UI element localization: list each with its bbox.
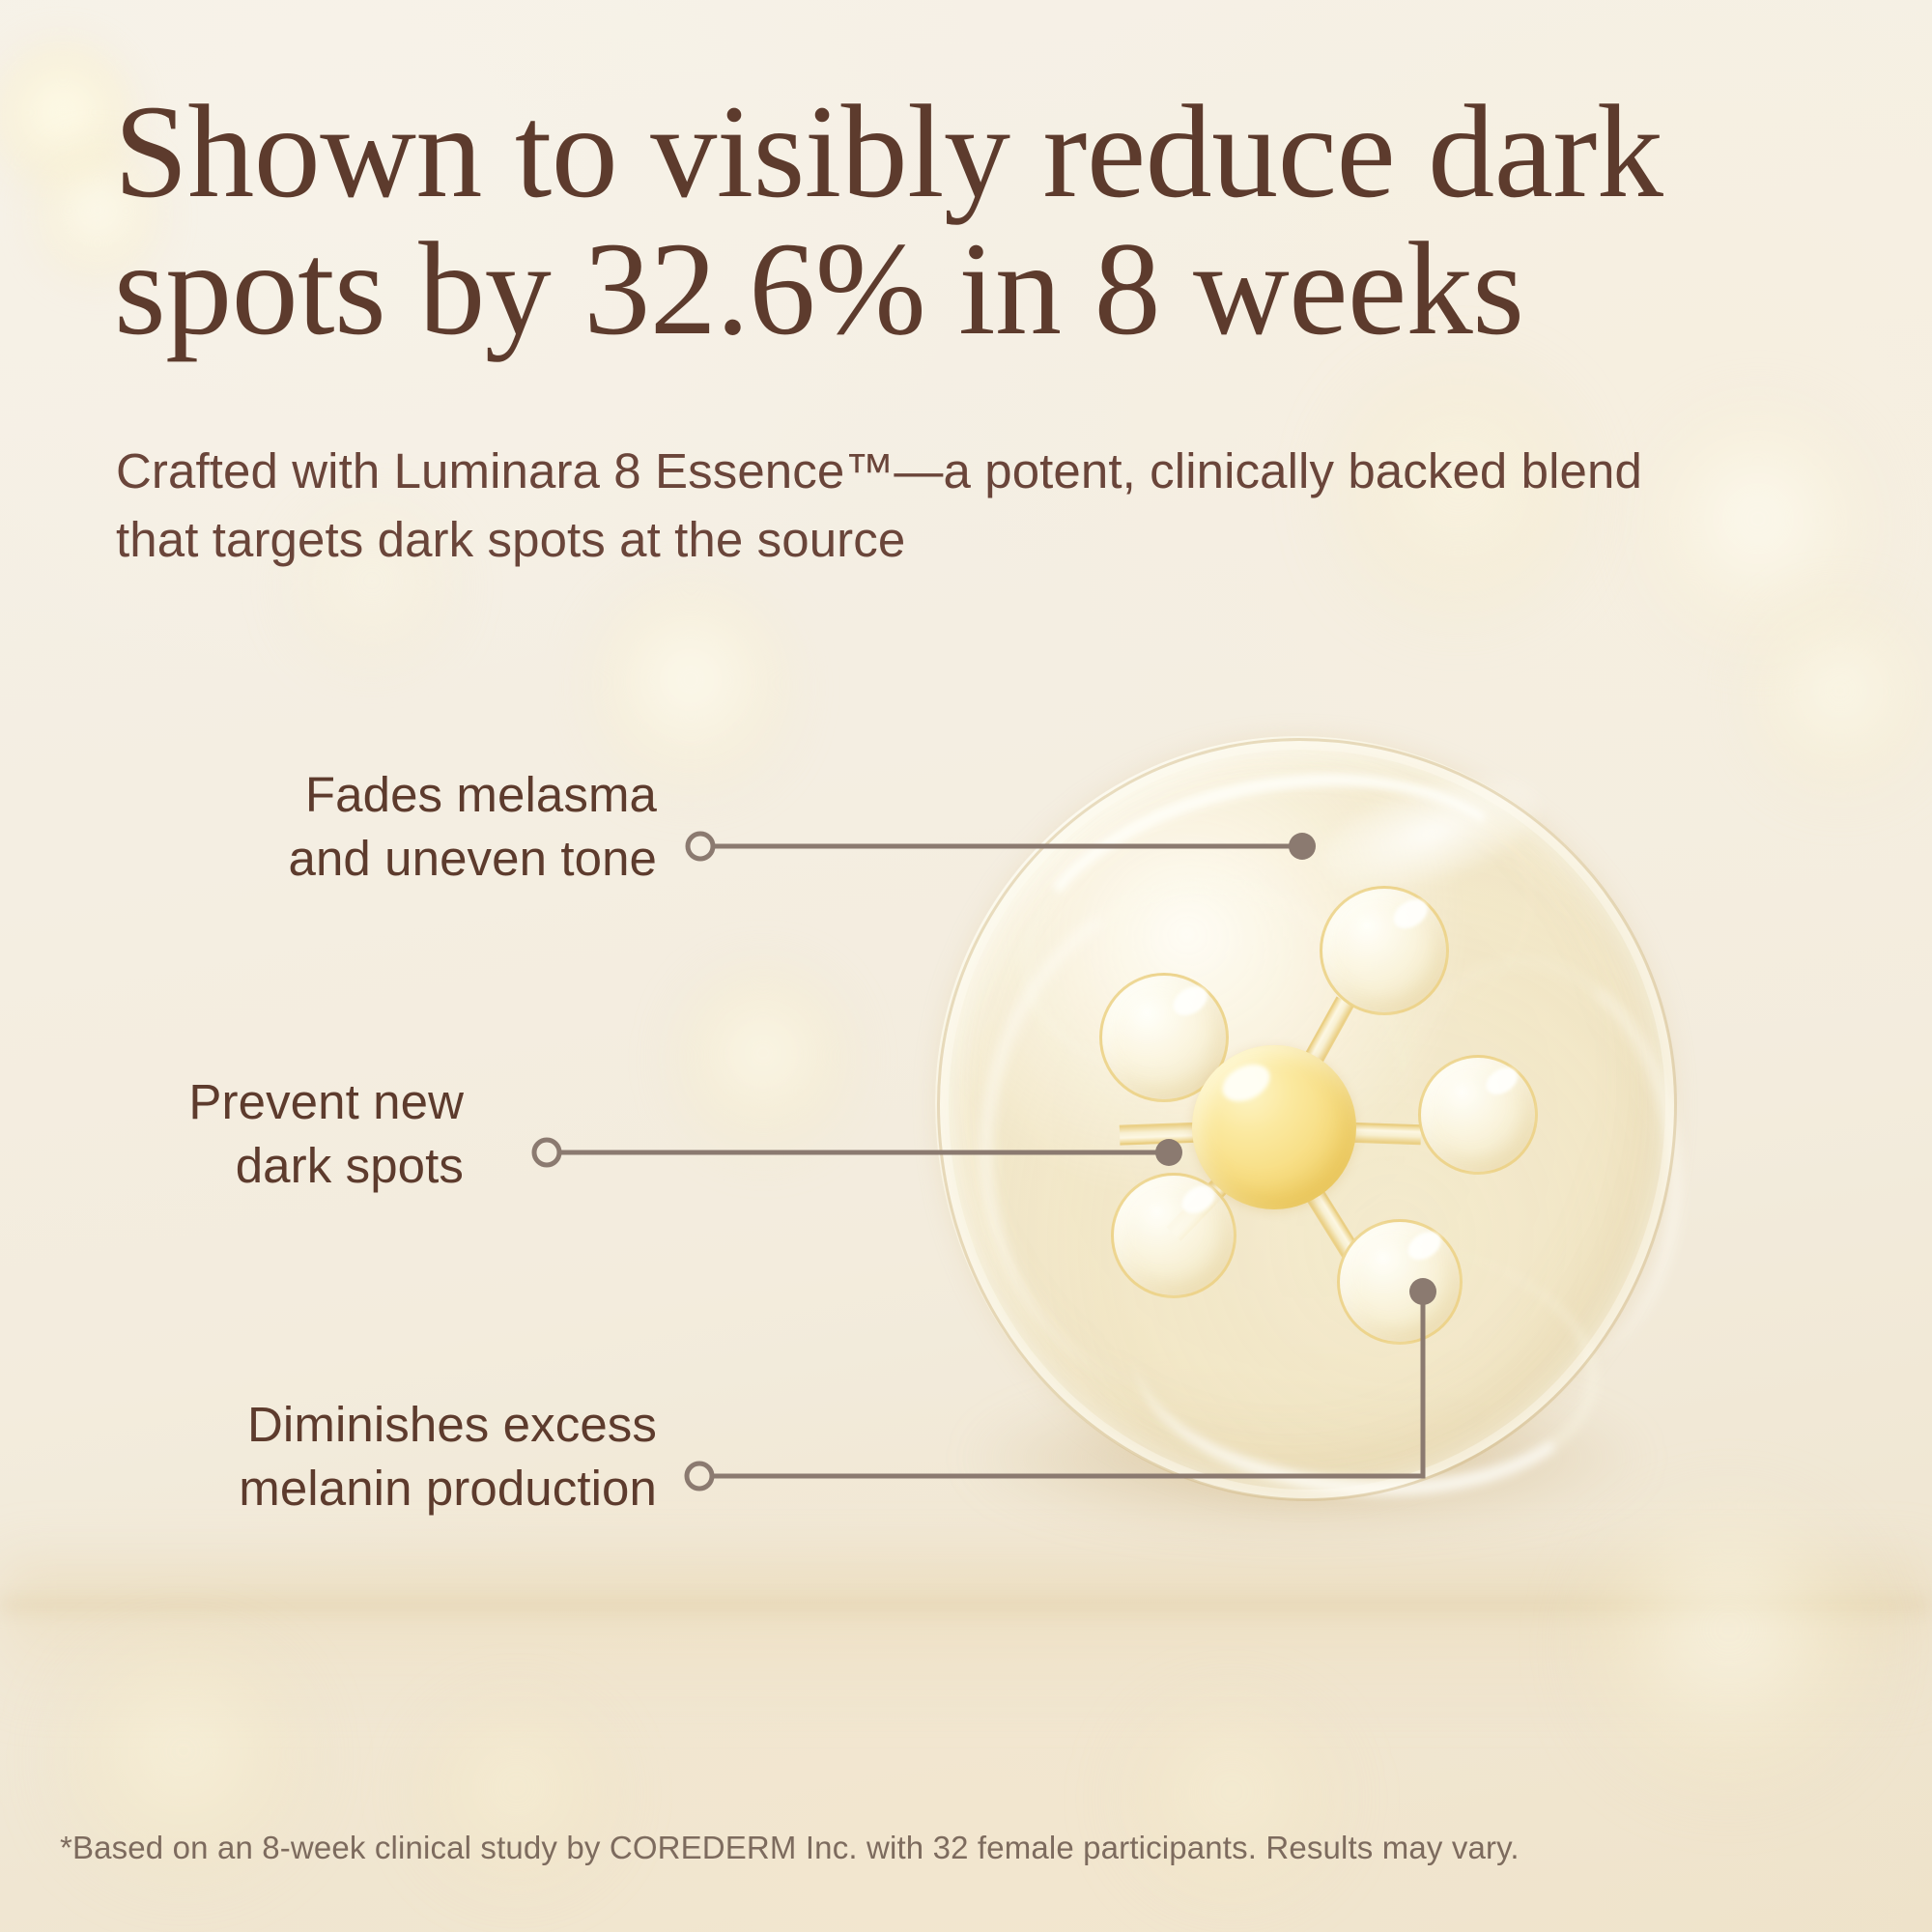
- molecule-diagram: [935, 736, 1675, 1499]
- molecule-node-satellite: [1337, 1219, 1463, 1345]
- infographic-canvas: Shown to visibly reduce dark spots by 32…: [0, 0, 1932, 1932]
- page-subtitle: Crafted with Luminara 8 Essence™—a poten…: [116, 437, 1671, 575]
- callout-label-fades-melasma: Fades melasma and uneven tone: [58, 763, 657, 892]
- callout-label-diminishes-melanin: Diminishes excess melanin production: [58, 1393, 657, 1521]
- footnote-disclaimer: *Based on an 8-week clinical study by CO…: [60, 1828, 1520, 1867]
- surface-horizon-line: [0, 1599, 1932, 1612]
- callout-label-prevent-new-dark-spots: Prevent new dark spots: [39, 1070, 464, 1199]
- molecule-node-center: [1192, 1045, 1356, 1209]
- surface-band: [0, 1546, 1932, 1710]
- molecule-node-satellite: [1111, 1173, 1236, 1298]
- product-sphere: [935, 736, 1675, 1505]
- molecule-node-satellite: [1418, 1055, 1538, 1175]
- page-title: Shown to visibly reduce dark spots by 32…: [114, 83, 1843, 357]
- molecule-node-satellite: [1320, 886, 1449, 1015]
